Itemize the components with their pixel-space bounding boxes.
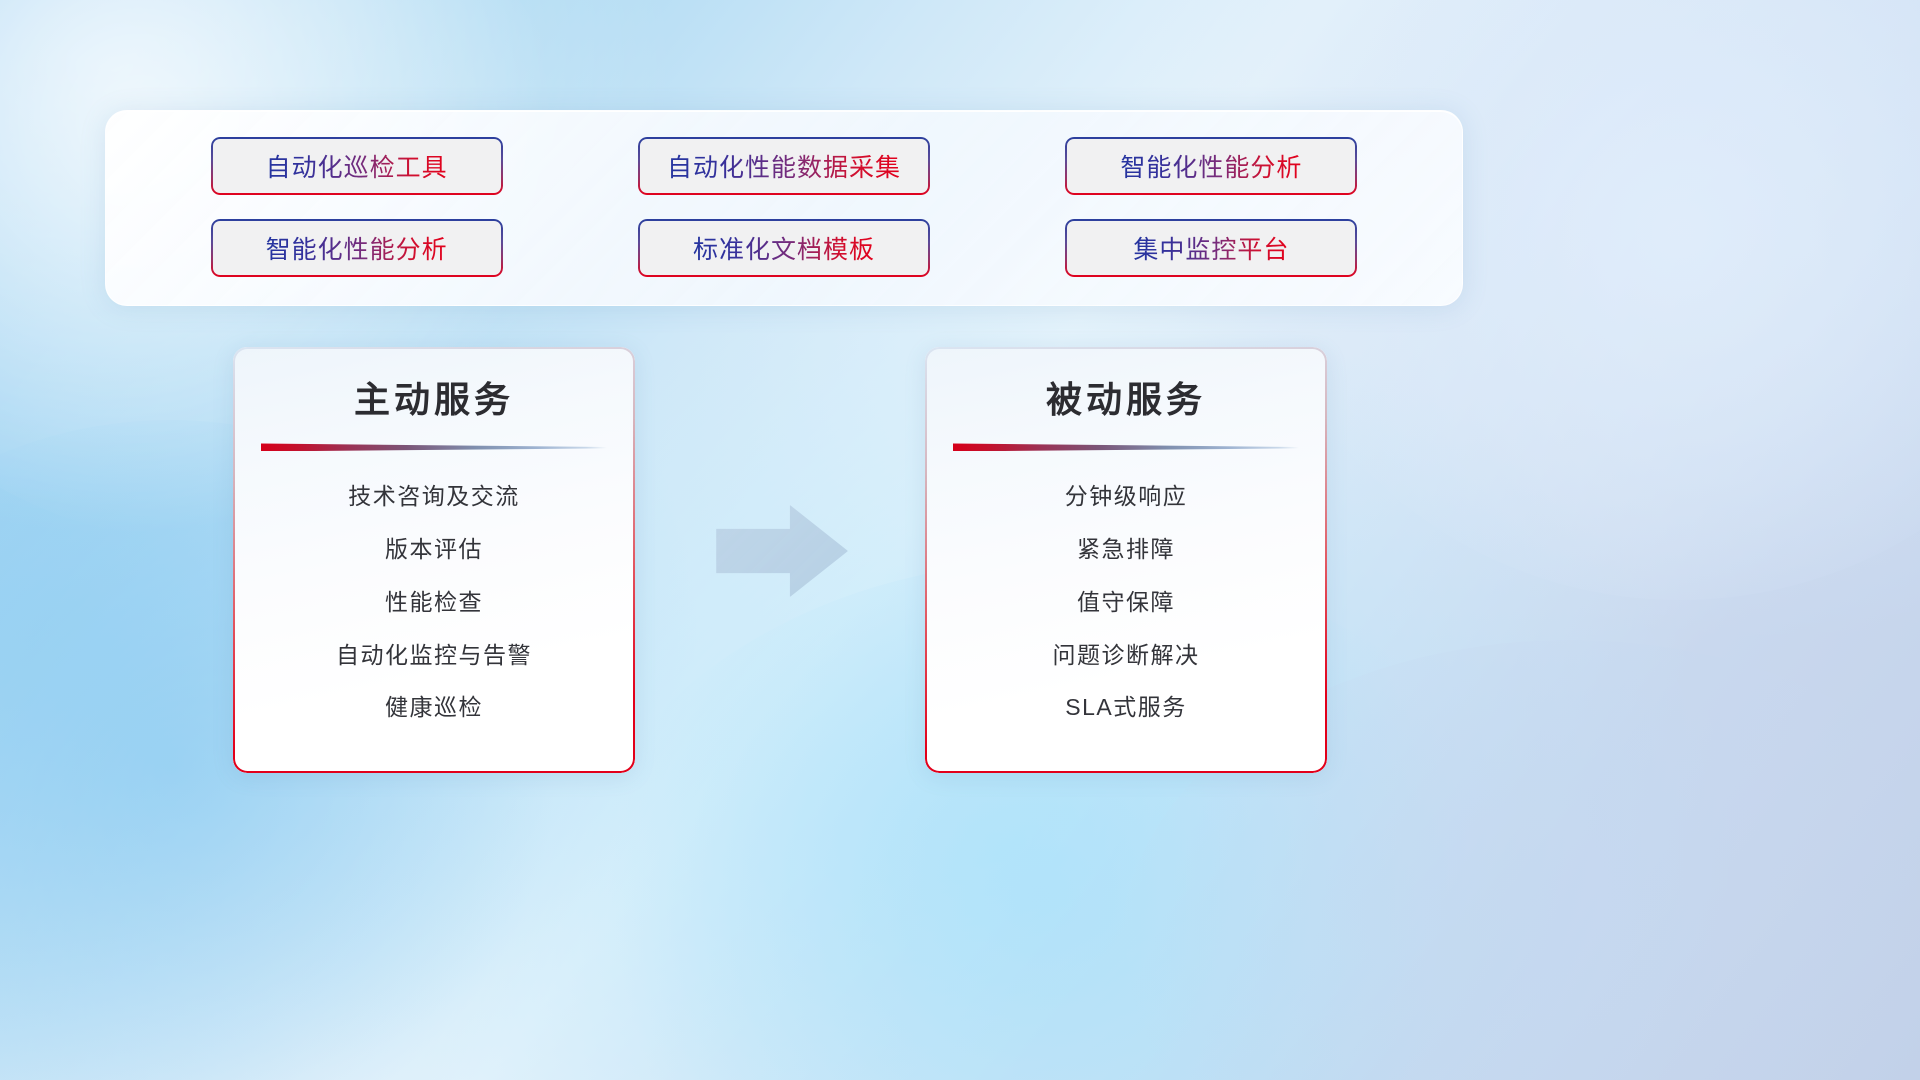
capability-tags-panel: 自动化巡检工具 自动化性能数据采集 智能化性能分析 智能化性能分析 标准化文档模… [105, 110, 1463, 306]
service-card-title: 主动服务 [354, 379, 514, 421]
capability-tag-5[interactable]: 标准化文档模板 [638, 219, 930, 277]
service-item[interactable]: 分钟级响应 [947, 482, 1305, 511]
service-item[interactable]: 值守保障 [947, 588, 1305, 617]
service-item-list: 技术咨询及交流 版本评估 性能检查 自动化监控与告警 健康巡检 [255, 457, 613, 747]
capability-tag-4[interactable]: 智能化性能分析 [211, 219, 503, 277]
service-item[interactable]: 性能检查 [255, 588, 613, 617]
title-divider [953, 443, 1299, 451]
capability-tag-label: 自动化性能数据采集 [667, 148, 901, 184]
capability-tag-label: 智能化性能分析 [266, 230, 448, 266]
right-arrow-icon [716, 505, 848, 597]
service-card-active[interactable]: 主动服务 技术咨询及交流 版本评估 性能检查 自动化监控与告警 健康巡检 [233, 347, 635, 773]
service-item[interactable]: 健康巡检 [255, 693, 613, 722]
service-item[interactable]: 技术咨询及交流 [255, 482, 613, 511]
capability-tag-label: 自动化巡检工具 [266, 148, 448, 184]
capability-tag-label: 智能化性能分析 [1120, 148, 1302, 184]
service-item[interactable]: 版本评估 [255, 535, 613, 564]
capability-tag-2[interactable]: 自动化性能数据采集 [638, 137, 930, 195]
service-item-list: 分钟级响应 紧急排障 值守保障 问题诊断解决 SLA式服务 [947, 457, 1305, 747]
service-card-body: 被动服务 分钟级响应 紧急排障 值守保障 问题诊断解决 SLA式服务 [925, 347, 1327, 773]
service-item[interactable]: 问题诊断解决 [947, 641, 1305, 670]
capability-tag-3[interactable]: 智能化性能分析 [1065, 137, 1357, 195]
service-item[interactable]: 紧急排障 [947, 535, 1305, 564]
service-item[interactable]: SLA式服务 [947, 693, 1305, 722]
capability-tag-1[interactable]: 自动化巡检工具 [211, 137, 503, 195]
capability-tag-6[interactable]: 集中监控平台 [1065, 219, 1357, 277]
slide-canvas: 自动化巡检工具 自动化性能数据采集 智能化性能分析 智能化性能分析 标准化文档模… [0, 0, 1920, 1080]
title-divider [261, 443, 607, 451]
service-card-body: 主动服务 技术咨询及交流 版本评估 性能检查 自动化监控与告警 健康巡检 [233, 347, 635, 773]
capability-tags-grid: 自动化巡检工具 自动化性能数据采集 智能化性能分析 智能化性能分析 标准化文档模… [106, 111, 1462, 305]
capability-tag-label: 集中监控平台 [1133, 230, 1289, 266]
service-card-title: 被动服务 [1046, 379, 1206, 421]
service-item[interactable]: 自动化监控与告警 [255, 641, 613, 670]
service-card-passive[interactable]: 被动服务 分钟级响应 紧急排障 值守保障 问题诊断解决 SLA式服务 [925, 347, 1327, 773]
capability-tag-label: 标准化文档模板 [693, 230, 875, 266]
